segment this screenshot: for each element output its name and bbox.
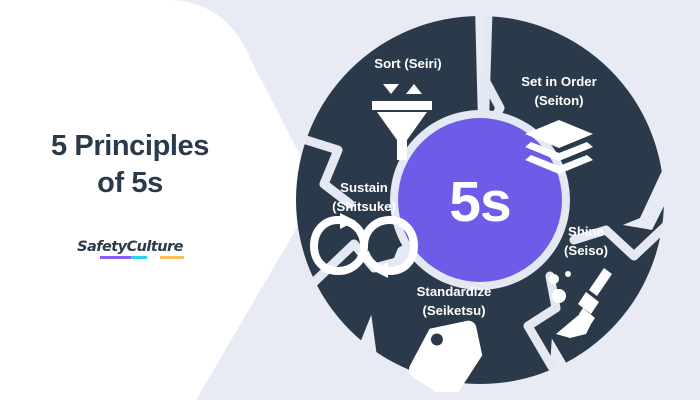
hub-label: 5s: [449, 170, 510, 234]
logo-wordmark: SafetyCulture: [77, 240, 183, 255]
title-block: 5 Principles of 5s: [0, 128, 260, 202]
logo-color-bars: [100, 256, 184, 259]
logo-bar-yellow: [160, 256, 184, 259]
five-s-wheel: 5s Sort (Seiri) Set in Order (Seiton): [288, 8, 672, 392]
logo-bar-purple: [100, 256, 131, 259]
logo-bar-cyan: [131, 256, 147, 259]
brand-logo: SafetyCulture: [0, 238, 260, 256]
safetyculture-logo: SafetyCulture: [77, 239, 183, 255]
logo-bar-white: [147, 256, 160, 259]
page-title: 5 Principles of 5s: [0, 128, 260, 202]
infographic-canvas: 5 Principles of 5s SafetyCulture: [0, 0, 700, 400]
